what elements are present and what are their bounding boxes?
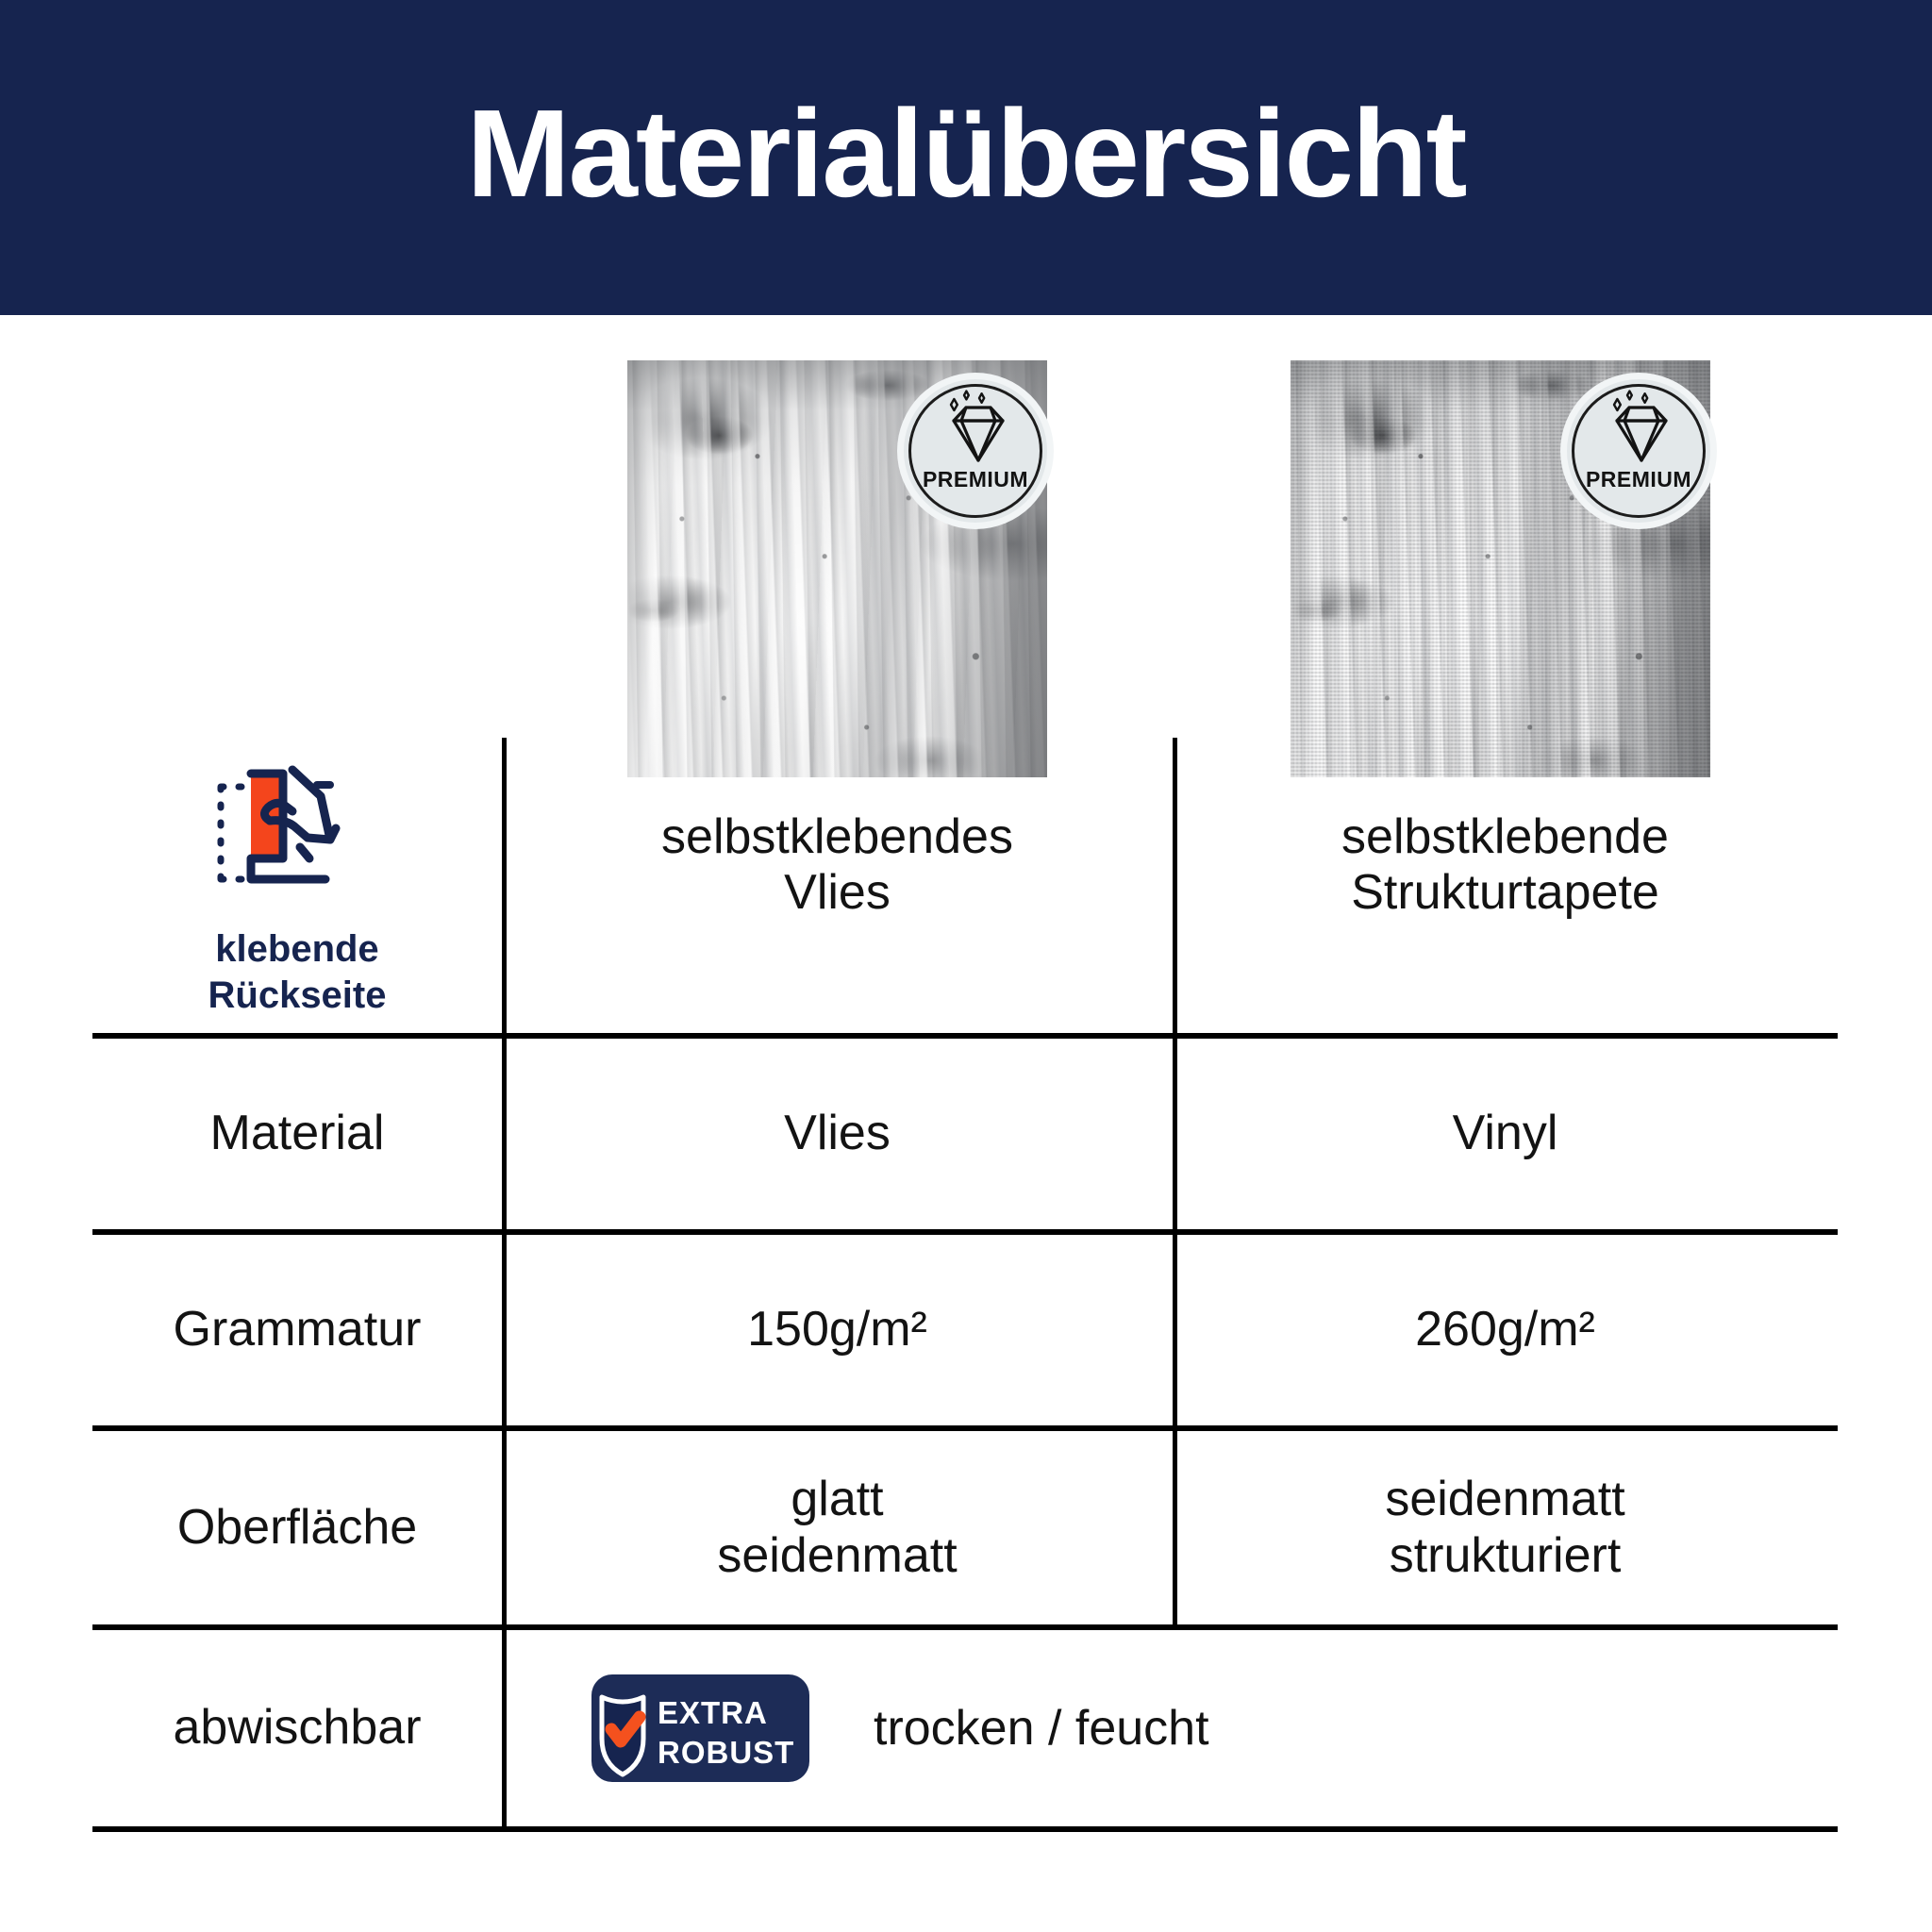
row-material-col-struktur: Vinyl (1173, 1039, 1838, 1229)
row-grammatur-col-vlies: 150g/m² (502, 1235, 1173, 1425)
row-abwischbar-value: trocken / feucht (874, 1700, 1209, 1757)
row-oberflaeche-col-vlies: glatt seidenmatt (502, 1431, 1173, 1624)
row-grammatur-label: Grammatur (92, 1235, 502, 1425)
premium-label: PREMIUM (904, 467, 1047, 492)
row-abwischbar-label: abwischbar (92, 1630, 502, 1826)
cell-line-2: seidenmatt (717, 1528, 957, 1584)
adhesive-backing-cell: klebende Rückseite (92, 208, 502, 1019)
diamond-icon (904, 379, 1047, 523)
cell-line-1: selbstklebendes (661, 809, 1013, 865)
row-product-type-col-vlies: selbstklebendes Vlies (502, 738, 1173, 992)
extra-robust-line1: EXTRA (658, 1695, 768, 1730)
cell-line-1: glatt (791, 1472, 883, 1527)
adhesive-label-line1: klebende (208, 926, 387, 973)
row-material-label: Material (92, 1039, 502, 1229)
premium-label: PREMIUM (1567, 467, 1710, 492)
premium-badge-2: PREMIUM (1567, 379, 1710, 523)
peeling-adhesive-backing-icon (189, 753, 406, 913)
cell-line-2: Strukturtapete (1351, 865, 1659, 921)
page-title: Materialübersicht (467, 92, 1466, 216)
table-rule-5 (92, 1826, 1838, 1832)
row-product-type-col-struktur: selbstklebende Strukturtapete (1173, 738, 1838, 992)
diamond-icon (1567, 379, 1710, 523)
cell-line-2: Vlies (784, 865, 891, 921)
adhesive-backing-label: klebende Rückseite (208, 926, 387, 1019)
cell-line-1: seidenmatt (1385, 1472, 1624, 1527)
adhesive-label-line2: Rückseite (208, 973, 387, 1019)
cell-line-2: strukturiert (1390, 1528, 1622, 1584)
row-oberflaeche-col-struktur: seidenmatt strukturiert (1173, 1431, 1838, 1624)
extra-robust-badge: EXTRA ROBUST (590, 1673, 811, 1784)
cell-line-1: selbstklebende (1341, 809, 1669, 865)
extra-robust-line2: ROBUST (658, 1735, 794, 1770)
row-material-col-vlies: Vlies (502, 1039, 1173, 1229)
table-divider-2 (1173, 738, 1177, 1629)
table-divider-1 (502, 738, 507, 1829)
row-oberflaeche-label: Oberfläche (92, 1431, 502, 1624)
row-grammatur-col-struktur: 260g/m² (1173, 1235, 1838, 1425)
premium-badge-1: PREMIUM (904, 379, 1047, 523)
row-abwischbar-value-group: EXTRA ROBUST trocken / feucht (502, 1630, 1838, 1826)
